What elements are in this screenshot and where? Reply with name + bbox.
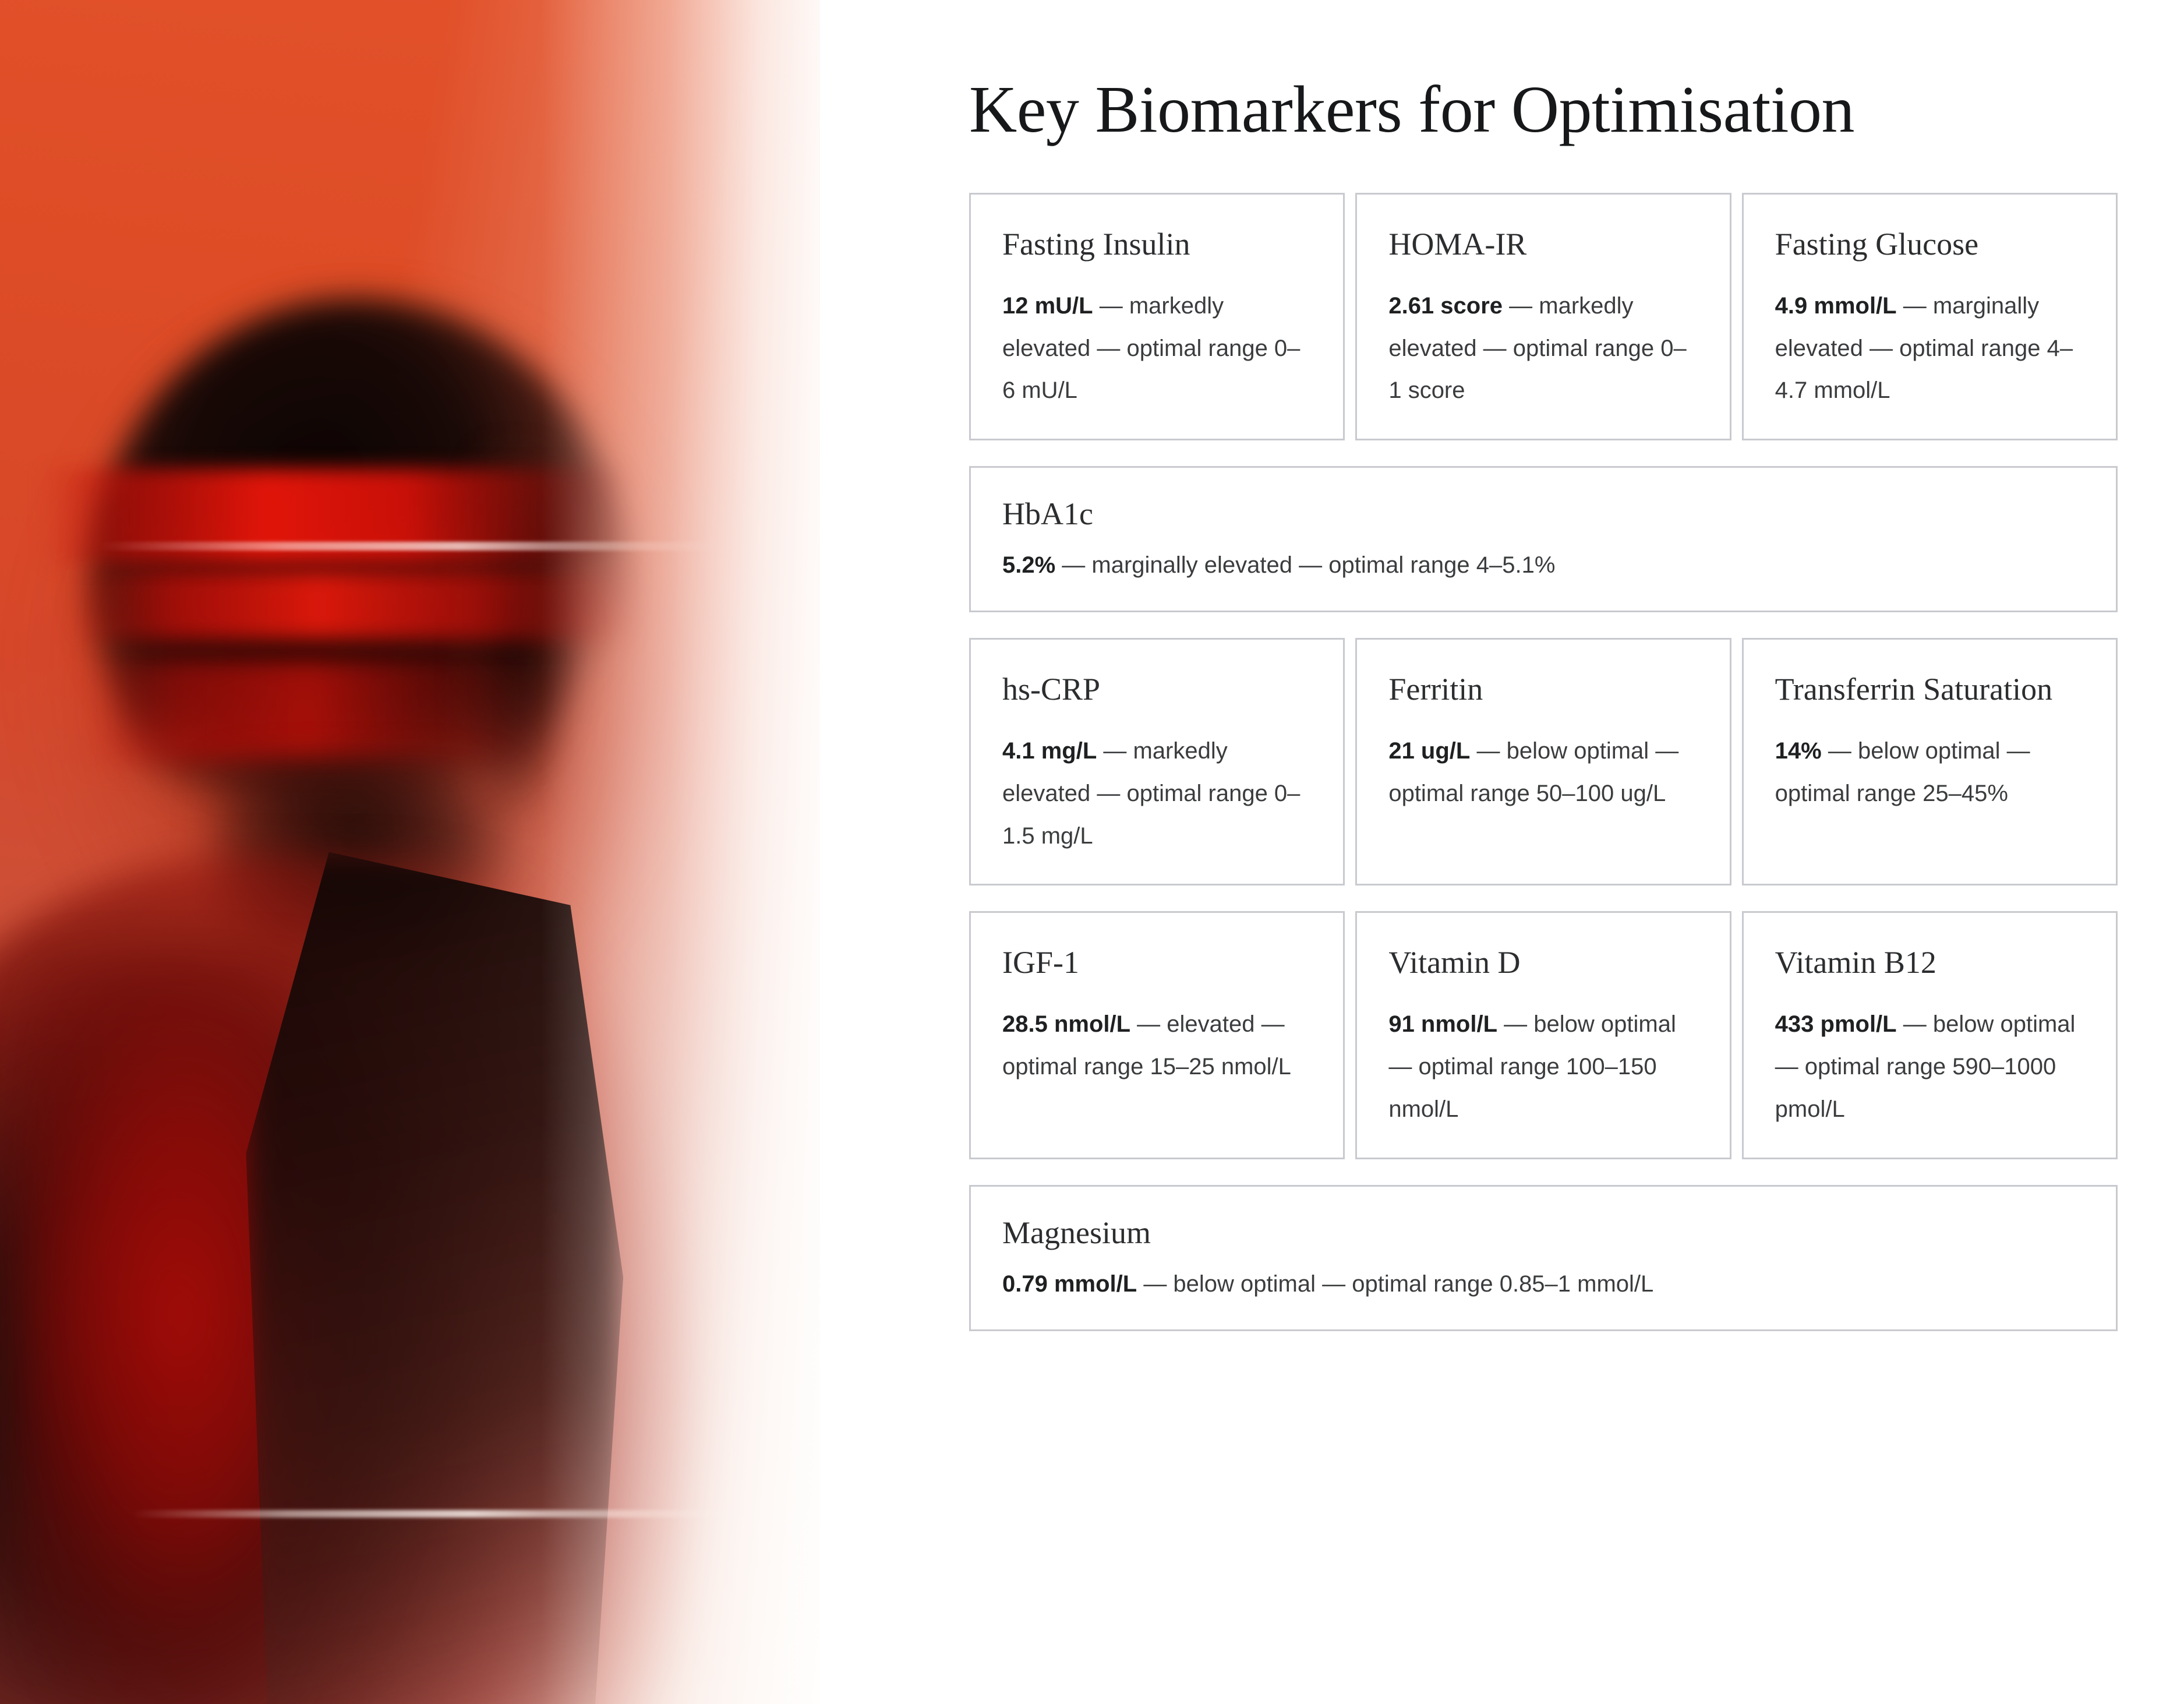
biomarker-title: Ferritin (1388, 670, 1698, 709)
biomarker-value: 5.2% (1002, 552, 1055, 578)
biomarker-value: 14% (1775, 738, 1822, 764)
biomarker-row: HbA1c 5.2% — marginally elevated — optim… (969, 466, 2118, 612)
content-panel: Key Biomarkers for Optimisation Fasting … (820, 0, 2184, 1704)
biomarker-title: HOMA-IR (1388, 225, 1698, 264)
biomarker-title: Vitamin D (1388, 943, 1698, 982)
biomarker-value: 4.9 mmol/L (1775, 293, 1897, 319)
biomarker-description: 4.9 mmol/L — marginally elevated — optim… (1775, 285, 2084, 412)
red-smear-lower (82, 658, 558, 763)
biomarker-description: 28.5 nmol/L — elevated — optimal range 1… (1002, 1003, 1312, 1088)
biomarker-title: IGF-1 (1002, 943, 1312, 982)
biomarker-value: 433 pmol/L (1775, 1011, 1897, 1037)
biomarker-row: Fasting Insulin 12 mU/L — markedly eleva… (969, 193, 2118, 440)
biomarker-title: Vitamin B12 (1775, 943, 2084, 982)
biomarker-value: 91 nmol/L (1388, 1011, 1497, 1037)
biomarker-title: HbA1c (1002, 495, 2084, 534)
biomarker-title: Magnesium (1002, 1213, 2084, 1253)
biomarker-card-fasting-glucose[interactable]: Fasting Glucose 4.9 mmol/L — marginally … (1742, 193, 2118, 440)
biomarker-value: 12 mU/L (1002, 293, 1093, 319)
portrait-image-panel (0, 0, 820, 1704)
biomarker-card-ferritin[interactable]: Ferritin 21 ug/L — below optimal — optim… (1355, 638, 1731, 885)
biomarker-description: 433 pmol/L — below optimal — optimal ran… (1775, 1003, 2084, 1130)
image-right-fade (541, 0, 820, 1704)
biomarker-description: 5.2% — marginally elevated — optimal ran… (1002, 548, 2084, 583)
biomarker-card-homa-ir[interactable]: HOMA-IR 2.61 score — markedly elevated —… (1355, 193, 1731, 440)
biomarker-title: Transferrin Saturation (1775, 670, 2084, 709)
biomarker-card-fasting-insulin[interactable]: Fasting Insulin 12 mU/L — markedly eleva… (969, 193, 1345, 440)
biomarker-grid: Fasting Insulin 12 mU/L — markedly eleva… (969, 193, 2118, 1331)
biomarker-value: 2.61 score (1388, 293, 1503, 319)
biomarker-card-vitamin-b12[interactable]: Vitamin B12 433 pmol/L — below optimal —… (1742, 911, 2118, 1159)
biomarker-row: Magnesium 0.79 mmol/L — below optimal — … (969, 1185, 2118, 1331)
biomarker-card-hba1c[interactable]: HbA1c 5.2% — marginally elevated — optim… (969, 466, 2118, 612)
biomarker-title: Fasting Insulin (1002, 225, 1312, 264)
biomarker-card-hs-crp[interactable]: hs-CRP 4.1 mg/L — markedly elevated — op… (969, 638, 1345, 885)
biomarker-card-transferrin-saturation[interactable]: Transferrin Saturation 14% — below optim… (1742, 638, 2118, 885)
biomarker-description: 21 ug/L — below optimal — optimal range … (1388, 730, 1698, 815)
biomarker-title: Fasting Glucose (1775, 225, 2084, 264)
biomarker-card-igf-1[interactable]: IGF-1 28.5 nmol/L — elevated — optimal r… (969, 911, 1345, 1159)
biomarker-detail: — below optimal — optimal range 0.85–1 m… (1137, 1271, 1653, 1297)
page-title: Key Biomarkers for Optimisation (969, 75, 2118, 145)
biomarker-title: hs-CRP (1002, 670, 1312, 709)
biomarker-value: 0.79 mmol/L (1002, 1271, 1137, 1297)
biomarker-description: 4.1 mg/L — markedly elevated — optimal r… (1002, 730, 1312, 857)
biomarker-description: 14% — below optimal — optimal range 25–4… (1775, 730, 2084, 815)
biomarker-card-magnesium[interactable]: Magnesium 0.79 mmol/L — below optimal — … (969, 1185, 2118, 1331)
biomarker-card-vitamin-d[interactable]: Vitamin D 91 nmol/L — below optimal — op… (1355, 911, 1731, 1159)
biomarker-row: IGF-1 28.5 nmol/L — elevated — optimal r… (969, 911, 2118, 1159)
biomarker-value: 21 ug/L (1388, 738, 1470, 764)
biomarker-description: 12 mU/L — markedly elevated — optimal ra… (1002, 285, 1312, 412)
slide: Key Biomarkers for Optimisation Fasting … (0, 0, 2184, 1704)
biomarker-description: 2.61 score — markedly elevated — optimal… (1388, 285, 1698, 412)
biomarker-detail: — marginally elevated — optimal range 4–… (1055, 552, 1555, 578)
biomarker-description: 91 nmol/L — below optimal — optimal rang… (1388, 1003, 1698, 1130)
biomarker-row: hs-CRP 4.1 mg/L — markedly elevated — op… (969, 638, 2118, 885)
biomarker-description: 0.79 mmol/L — below optimal — optimal ra… (1002, 1266, 2084, 1301)
biomarker-value: 4.1 mg/L (1002, 738, 1097, 764)
biomarker-value: 28.5 nmol/L (1002, 1011, 1130, 1037)
